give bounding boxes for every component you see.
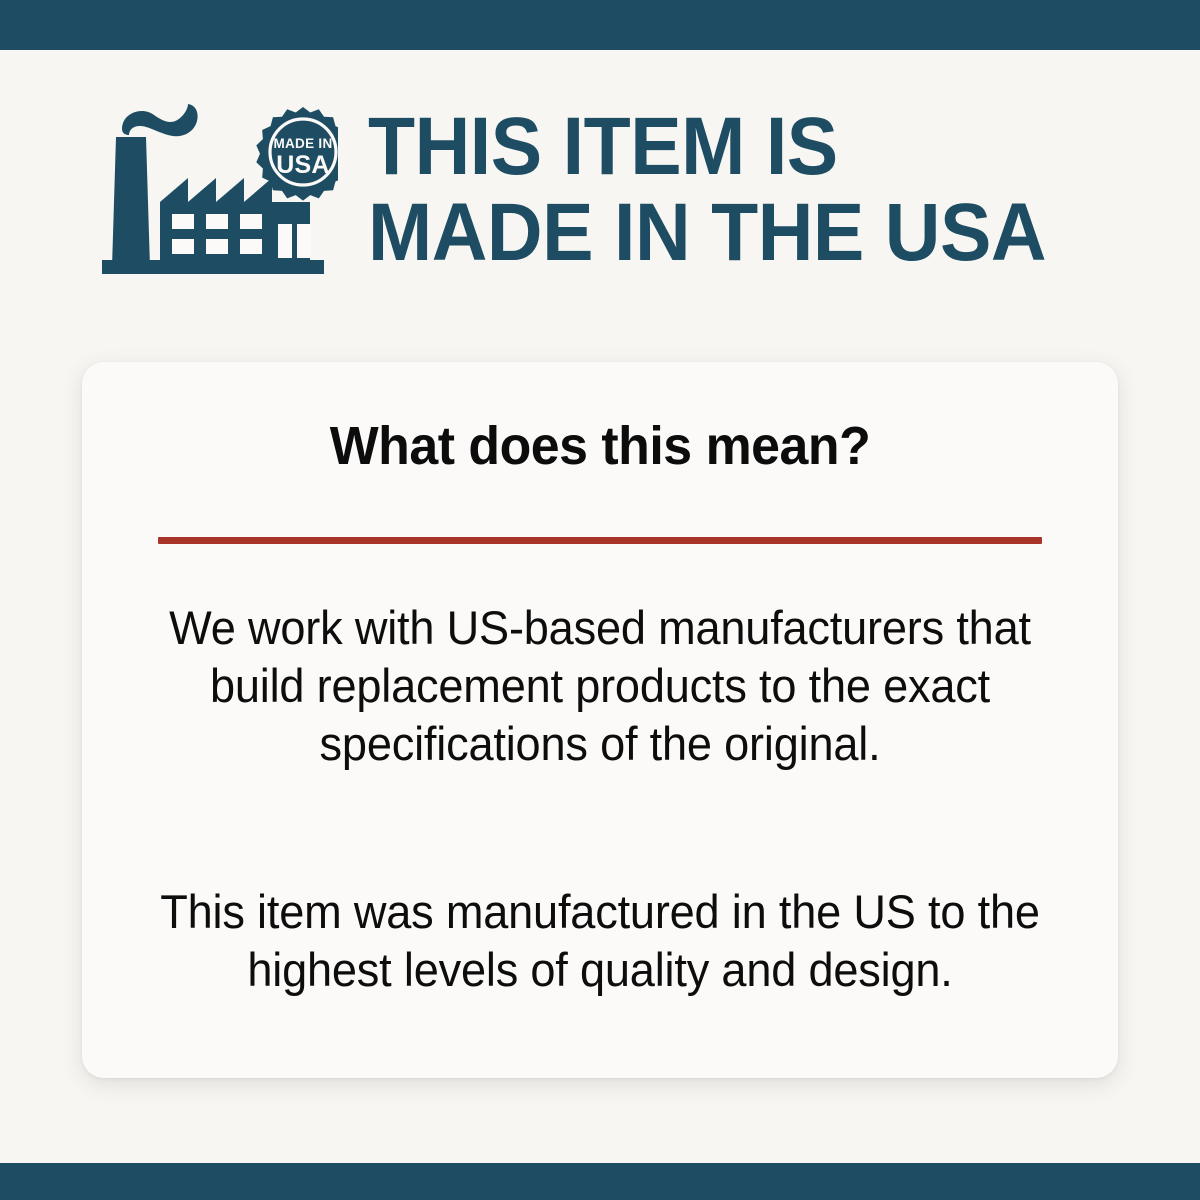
info-card: What does this mean? We work with US-bas… bbox=[82, 362, 1118, 1078]
card-paragraph-1: We work with US-based manufacturers that… bbox=[149, 599, 1051, 773]
made-in-usa-banner: MADE IN USA THIS ITEM IS MADE IN THE USA… bbox=[0, 0, 1200, 1200]
svg-text:MADE IN: MADE IN bbox=[273, 136, 332, 151]
card-divider bbox=[158, 537, 1042, 544]
card-paragraph-2: This item was manufactured in the US to … bbox=[149, 883, 1051, 999]
svg-text:USA: USA bbox=[276, 151, 329, 179]
factory-icon: MADE IN USA bbox=[98, 102, 338, 287]
page-title-line-1: THIS ITEM IS bbox=[368, 104, 1046, 190]
card-title: What does this mean? bbox=[103, 418, 1098, 474]
page-title: THIS ITEM IS MADE IN THE USA bbox=[368, 96, 1046, 276]
bottom-accent-bar bbox=[0, 1163, 1200, 1200]
page-title-line-2: MADE IN THE USA bbox=[368, 190, 1046, 276]
top-accent-bar bbox=[0, 0, 1200, 50]
header: MADE IN USA THIS ITEM IS MADE IN THE USA bbox=[98, 96, 1158, 291]
